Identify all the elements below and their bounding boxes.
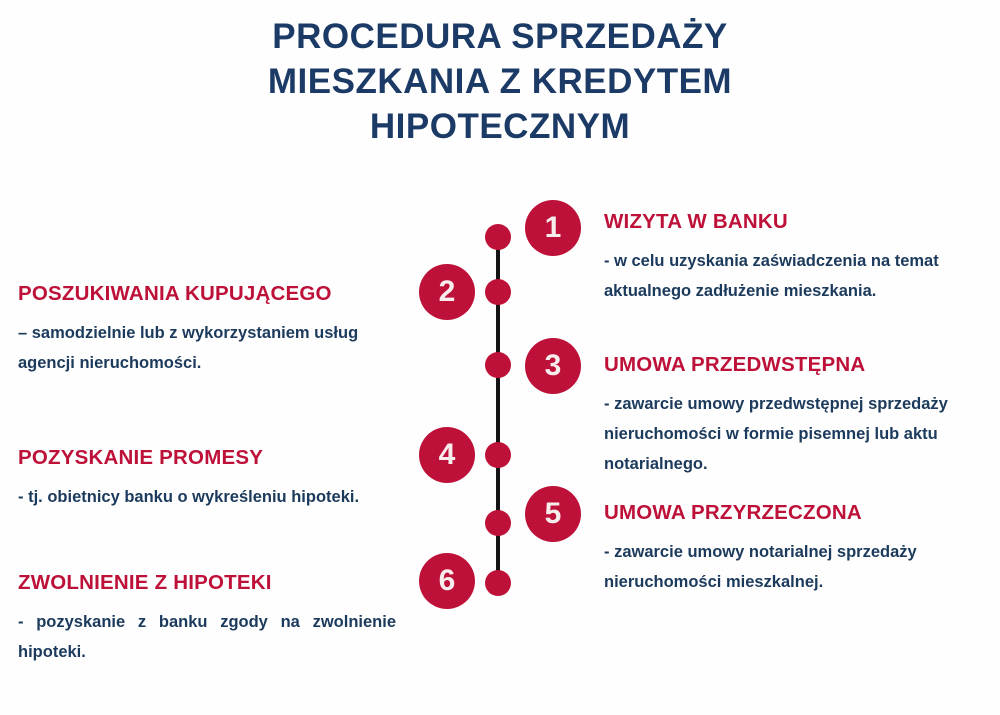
step-body-3: - zawarcie umowy przedwstępnej sprzedaży… xyxy=(604,389,1000,479)
step-heading-4: POZYSKANIE PROMESY xyxy=(18,445,418,471)
title-line-1: PROCEDURA SPRZEDAŻY xyxy=(0,14,1000,59)
step-number-circle-1[interactable]: 1 xyxy=(525,200,581,256)
infographic-canvas: PROCEDURA SPRZEDAŻY MIESZKANIA Z KREDYTE… xyxy=(0,0,1000,715)
step-body-6: - pozyskanie z banku zgody na zwolnienie… xyxy=(18,607,396,667)
step-heading-5: UMOWA PRZYRZECZONA xyxy=(604,500,1000,526)
timeline-dot-6 xyxy=(485,570,511,596)
step-number-circle-4[interactable]: 4 xyxy=(419,427,475,483)
title-line-2: MIESZKANIA Z KREDYTEM xyxy=(0,59,1000,104)
timeline-dot-4 xyxy=(485,442,511,468)
step-text-block-1: WIZYTA W BANKU - w celu uzyskania zaświa… xyxy=(604,209,1000,306)
step-number-circle-6[interactable]: 6 xyxy=(419,553,475,609)
step-text-block-2: POSZUKIWANIA KUPUJĄCEGO – samodzielnie l… xyxy=(18,281,418,378)
step-text-block-3: UMOWA PRZEDWSTĘPNA - zawarcie umowy prze… xyxy=(604,352,1000,479)
title-line-3: HIPOTECZNYM xyxy=(0,104,1000,149)
step-text-block-5: UMOWA PRZYRZECZONA - zawarcie umowy nota… xyxy=(604,500,1000,597)
page-title: PROCEDURA SPRZEDAŻY MIESZKANIA Z KREDYTE… xyxy=(0,14,1000,149)
step-heading-2: POSZUKIWANIA KUPUJĄCEGO xyxy=(18,281,418,307)
step-body-4: - tj. obietnicy banku o wykreśleniu hipo… xyxy=(18,482,418,512)
step-text-block-6: ZWOLNIENIE Z HIPOTEKI - pozyskanie z ban… xyxy=(18,570,418,667)
step-body-5: - zawarcie umowy notarialnej sprzedaży n… xyxy=(604,537,1000,597)
timeline-dot-3 xyxy=(485,352,511,378)
timeline-dot-2 xyxy=(485,279,511,305)
step-body-2: – samodzielnie lub z wykorzystaniem usłu… xyxy=(18,318,418,378)
timeline-dot-1 xyxy=(485,224,511,250)
step-text-block-4: POZYSKANIE PROMESY - tj. obietnicy banku… xyxy=(18,445,418,512)
step-number-circle-3[interactable]: 3 xyxy=(525,338,581,394)
step-number-circle-5[interactable]: 5 xyxy=(525,486,581,542)
timeline-dot-5 xyxy=(485,510,511,536)
step-heading-6: ZWOLNIENIE Z HIPOTEKI xyxy=(18,570,418,596)
step-heading-3: UMOWA PRZEDWSTĘPNA xyxy=(604,352,1000,378)
step-heading-1: WIZYTA W BANKU xyxy=(604,209,1000,235)
step-body-1: - w celu uzyskania zaświadczenia na tema… xyxy=(604,246,1000,306)
step-number-circle-2[interactable]: 2 xyxy=(419,264,475,320)
